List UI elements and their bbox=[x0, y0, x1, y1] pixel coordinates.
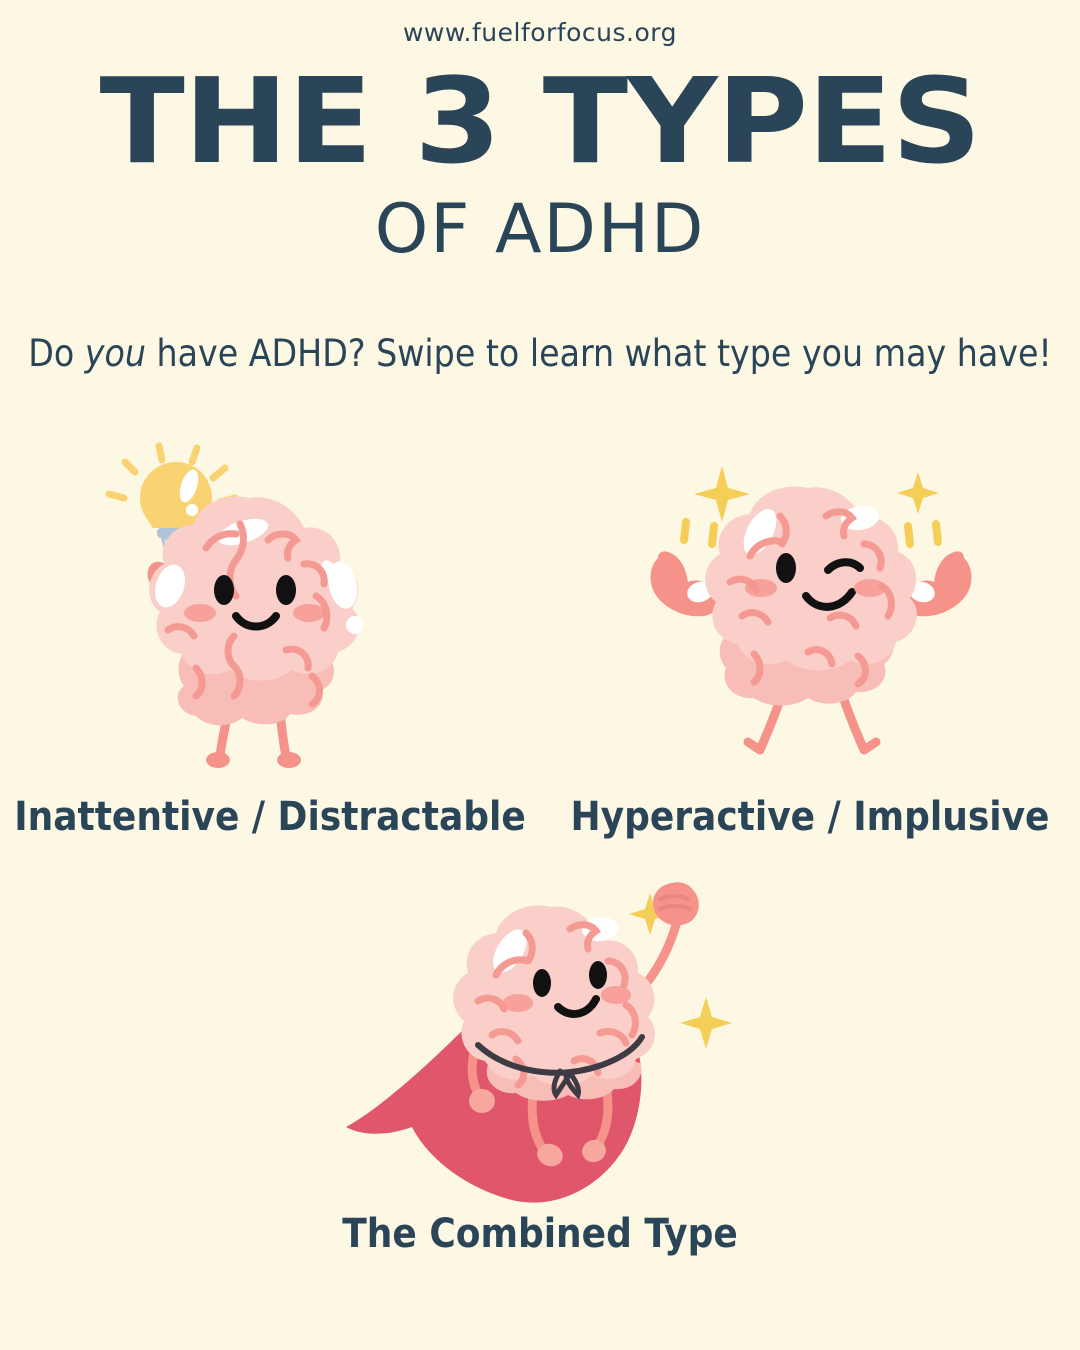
right-blush bbox=[293, 604, 325, 622]
page-subtitle: OF ADHD bbox=[0, 196, 1080, 264]
tagline: Do you have ADHD? Swipe to learn what ty… bbox=[0, 332, 1080, 375]
left-eye bbox=[533, 969, 551, 997]
brain-flexing-muscles-illustration bbox=[630, 440, 990, 774]
left-eye bbox=[214, 575, 234, 605]
right-blush bbox=[854, 579, 886, 597]
brain-body bbox=[149, 496, 364, 725]
left-eye bbox=[776, 553, 796, 583]
type-label-combined: The Combined Type bbox=[0, 1211, 1080, 1257]
tagline-before: Do bbox=[28, 332, 85, 375]
type-card-hyperactive: Hyperactive / Implusive bbox=[540, 440, 1080, 840]
brain-superhero-cape-illustration bbox=[320, 855, 760, 1239]
left-blush bbox=[745, 579, 777, 597]
type-row-bottom: The Combined Type bbox=[0, 855, 1080, 1295]
right-eye bbox=[589, 961, 607, 989]
tagline-after: have ADHD? Swipe to learn what type you … bbox=[146, 332, 1052, 375]
left-blush bbox=[503, 994, 533, 1012]
type-label-inattentive: Inattentive / Distractable bbox=[0, 794, 540, 840]
type-card-inattentive: Inattentive / Distractable bbox=[0, 440, 540, 840]
brain-body bbox=[705, 486, 917, 705]
type-row-top: Inattentive / Distractable bbox=[0, 440, 1080, 840]
site-url: www.fuelforfocus.org bbox=[0, 18, 1080, 47]
type-label-hyperactive: Hyperactive / Implusive bbox=[540, 794, 1080, 840]
right-eye bbox=[276, 575, 296, 605]
infographic-page: www.fuelforfocus.org THE 3 TYPES OF ADHD… bbox=[0, 0, 1080, 1350]
right-blush bbox=[601, 986, 631, 1004]
page-title: THE 3 TYPES bbox=[0, 62, 1080, 180]
tagline-emphasis: you bbox=[85, 332, 146, 375]
left-blush bbox=[184, 604, 216, 622]
brain-with-lightbulb-illustration bbox=[100, 440, 440, 774]
